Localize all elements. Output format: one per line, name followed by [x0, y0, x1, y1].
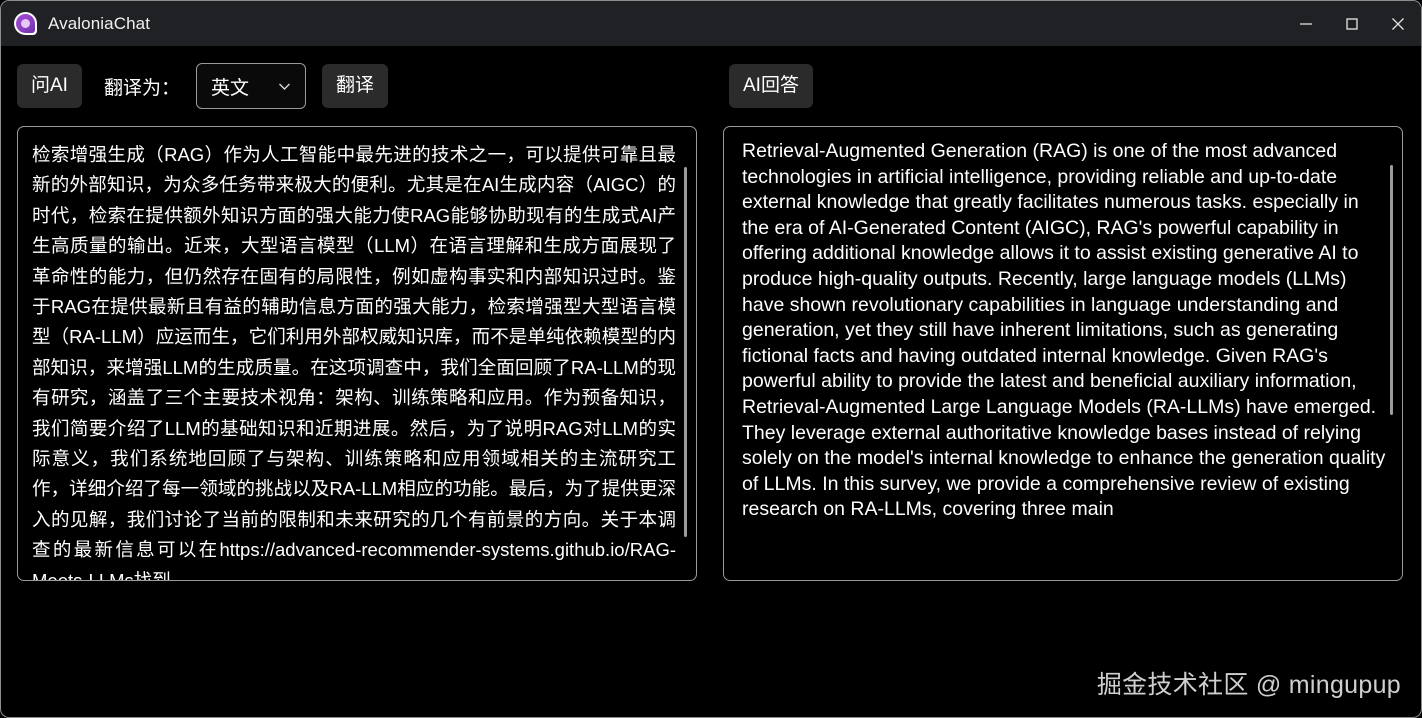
source-scrollbar-thumb[interactable] [684, 167, 687, 537]
app-window: AvaloniaChat 问AI 翻译为： 英文 [0, 0, 1422, 718]
ai-answer-button[interactable]: AI回答 [729, 64, 813, 108]
result-scrollbar-thumb[interactable] [1390, 165, 1393, 415]
toolbar: 问AI 翻译为： 英文 翻译 AI回答 [1, 46, 1421, 126]
chevron-down-icon [276, 78, 293, 95]
maximize-button[interactable] [1329, 1, 1375, 46]
translate-button[interactable]: 翻译 [322, 64, 388, 108]
close-button[interactable] [1375, 1, 1421, 46]
source-text-panel[interactable]: 检索增强生成（RAG）作为人工智能中最先进的技术之一，可以提供可靠且最新的外部知… [17, 126, 697, 581]
titlebar-left: AvaloniaChat [1, 12, 150, 35]
result-text-panel[interactable]: Retrieval-Augmented Generation (RAG) is … [723, 126, 1403, 581]
translate-to-label: 翻译为： [104, 73, 180, 100]
maximize-icon [1344, 16, 1360, 32]
result-text[interactable]: Retrieval-Augmented Generation (RAG) is … [742, 139, 1386, 580]
result-scrollbar[interactable] [1390, 137, 1393, 570]
avalonia-logo-icon [14, 12, 37, 35]
minimize-button[interactable] [1283, 1, 1329, 46]
language-select-value: 英文 [211, 73, 249, 100]
source-text[interactable]: 检索增强生成（RAG）作为人工智能中最先进的技术之一，可以提供可靠且最新的外部知… [32, 140, 676, 580]
ask-ai-button[interactable]: 问AI [17, 64, 82, 108]
window-controls [1283, 1, 1421, 46]
source-scrollbar[interactable] [684, 137, 687, 570]
minimize-icon [1298, 16, 1314, 32]
panels-row: 检索增强生成（RAG）作为人工智能中最先进的技术之一，可以提供可靠且最新的外部知… [1, 126, 1421, 581]
language-select[interactable]: 英文 [196, 63, 306, 109]
watermark: 掘金技术社区 @ mingupup [1097, 665, 1401, 701]
close-icon [1389, 15, 1407, 33]
titlebar: AvaloniaChat [1, 1, 1421, 46]
app-title: AvaloniaChat [48, 14, 150, 34]
